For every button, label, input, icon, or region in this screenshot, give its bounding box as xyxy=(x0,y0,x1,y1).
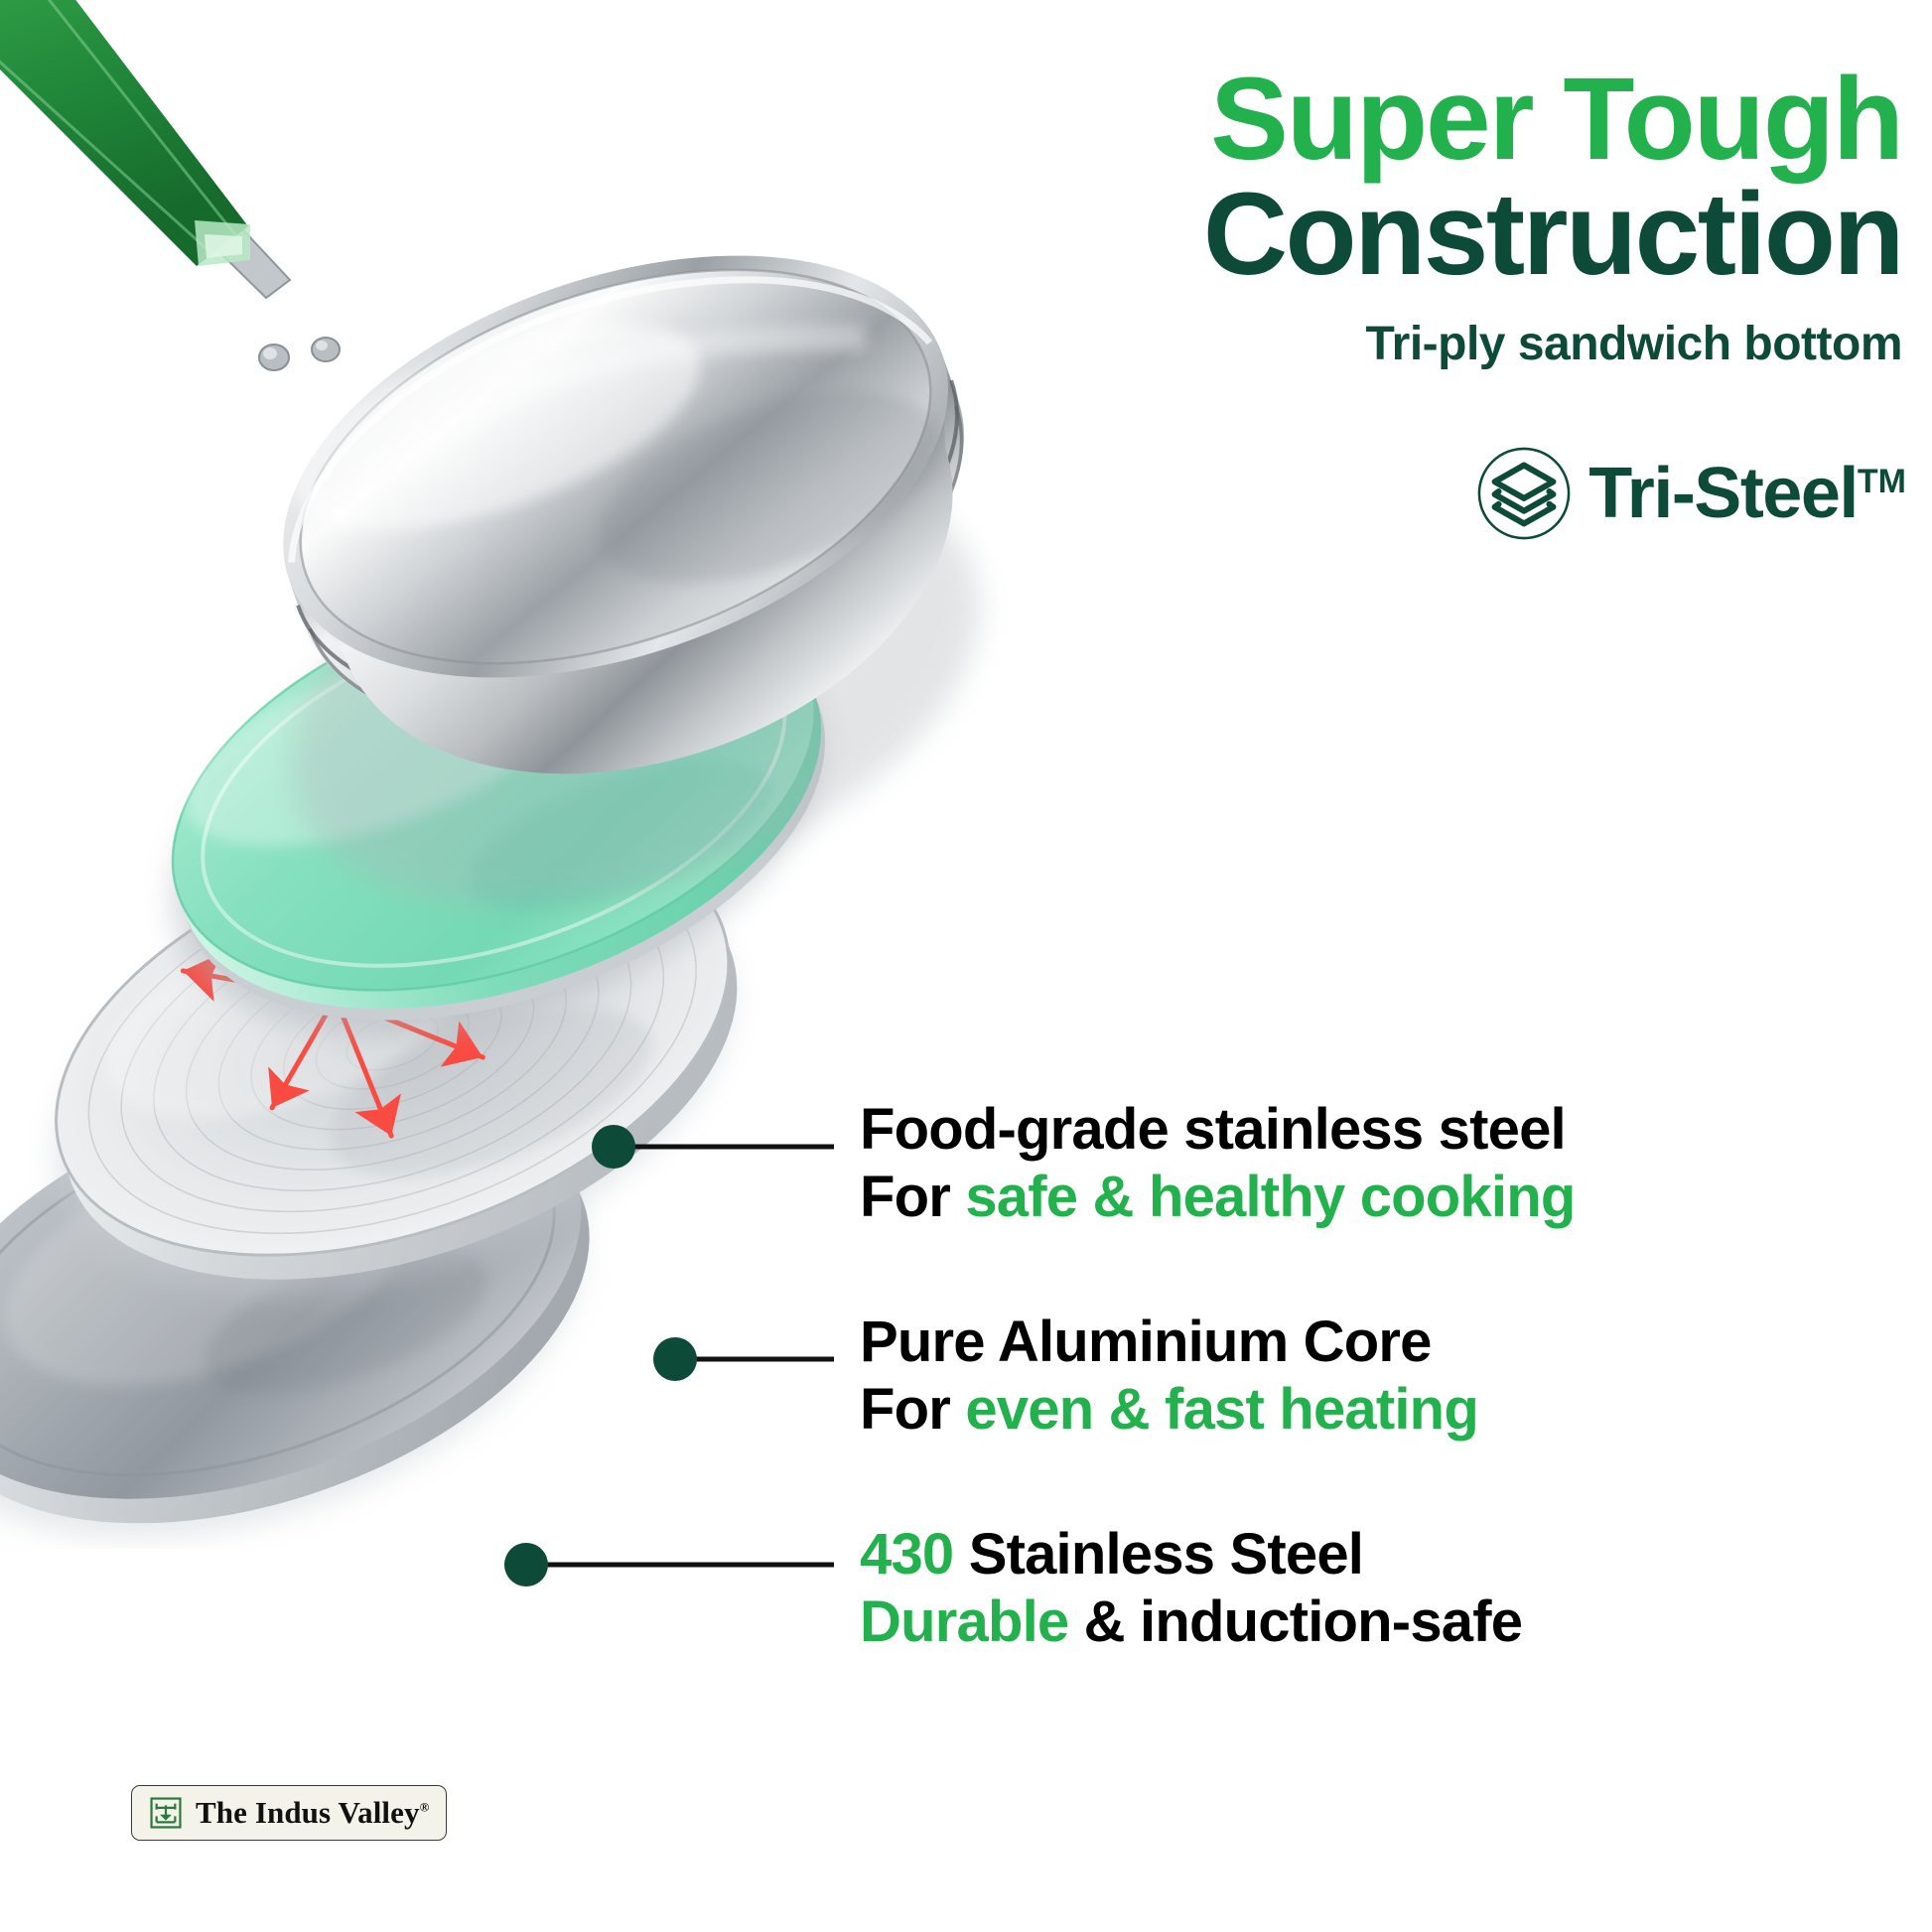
callout-2-line-2: For even & fast heating xyxy=(860,1376,1478,1444)
pan-handle xyxy=(0,0,250,266)
headline-block: Super Tough Construction Tri-ply sandwic… xyxy=(850,60,1902,371)
callout-3-highlight: Durable xyxy=(860,1589,1068,1654)
headline-line-2: Construction xyxy=(850,175,1902,294)
callout-3-line-2: Durable & induction-safe xyxy=(860,1588,1522,1656)
brand-logo: The Indus Valley® xyxy=(131,1785,447,1841)
infographic-canvas: Super Tough Construction Tri-ply sandwic… xyxy=(0,0,1932,1932)
handle-rivets xyxy=(259,338,340,370)
callout-3-grade: 430 xyxy=(860,1522,953,1587)
tri-steel-name: Tri-Steel xyxy=(1588,454,1858,533)
callout-1-prefix: For xyxy=(860,1165,965,1229)
callout-food-grade-stainless-steel: Food-grade stainless steel For safe & he… xyxy=(860,1096,1575,1232)
callout-1-highlight: safe & healthy cooking xyxy=(965,1165,1575,1229)
callout-3-line-1-suffix: Stainless Steel xyxy=(953,1522,1363,1587)
callout-3-line-1: 430 Stainless Steel xyxy=(860,1521,1522,1588)
callout-2-prefix: For xyxy=(860,1377,965,1442)
callout-430-stainless-steel: 430 Stainless Steel Durable & induction-… xyxy=(860,1521,1522,1657)
callout-pure-aluminium-core: Pure Aluminium Core For even & fast heat… xyxy=(860,1309,1478,1445)
headline-line-1: Super Tough xyxy=(850,60,1902,179)
registered-symbol: ® xyxy=(420,1800,430,1815)
callout-3-line-2-suffix: & induction-safe xyxy=(1068,1589,1522,1654)
brand-name-text: The Indus Valley xyxy=(196,1795,420,1830)
indus-valley-emblem-icon xyxy=(149,1796,183,1830)
tri-steel-badge: Tri-SteelTM xyxy=(1475,445,1906,542)
callout-2-highlight: even & fast heating xyxy=(965,1377,1478,1442)
callout-1-line-1: Food-grade stainless steel xyxy=(860,1096,1575,1164)
brand-name: The Indus Valley® xyxy=(196,1795,429,1831)
callout-1-line-2: For safe & healthy cooking xyxy=(860,1164,1575,1231)
callout-2-line-1: Pure Aluminium Core xyxy=(860,1309,1478,1376)
connector-dot-3 xyxy=(504,1543,548,1587)
tri-steel-label: Tri-SteelTM xyxy=(1588,453,1906,534)
trademark-symbol: TM xyxy=(1858,463,1906,500)
subtitle: Tri-ply sandwich bottom xyxy=(850,317,1902,371)
layers-stack-icon xyxy=(1475,445,1573,542)
